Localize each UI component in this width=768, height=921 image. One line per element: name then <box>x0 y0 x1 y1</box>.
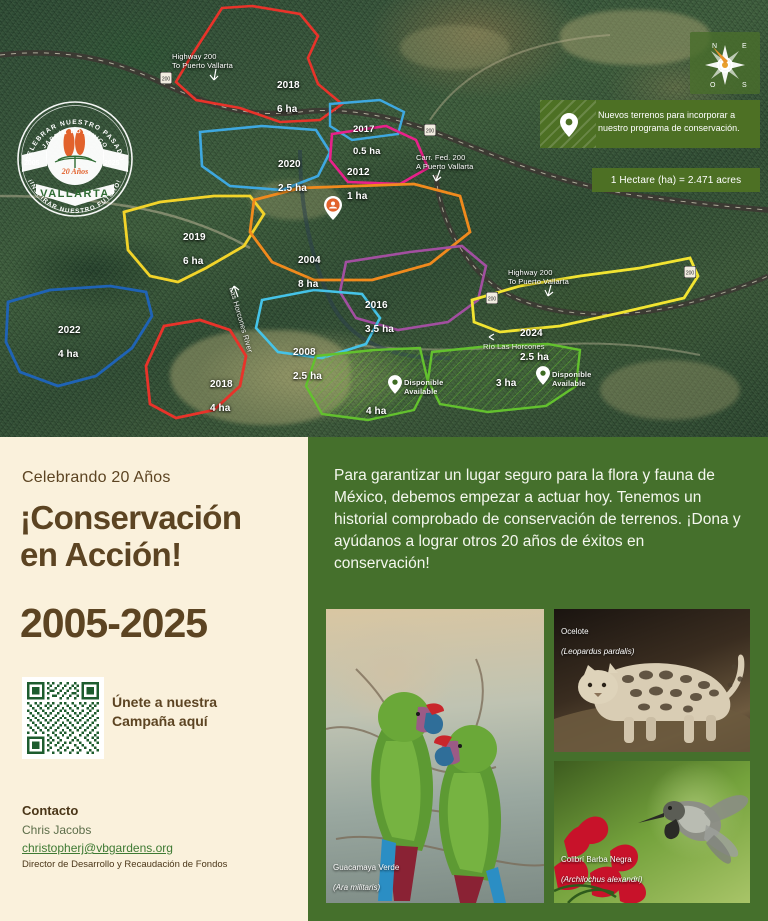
available-pin-icon-4ha <box>388 375 402 394</box>
available-pin-icon-3ha <box>536 366 550 385</box>
parcel-year: 2012 <box>347 167 370 178</box>
compass-rose: N E O S <box>690 32 760 94</box>
svg-text:200: 200 <box>686 271 695 277</box>
qr-caption: Únete a nuestra Campaña aquí <box>112 693 217 731</box>
contact-role: Director de Desarrollo y Recaudación de … <box>22 859 227 870</box>
macaw-right <box>434 725 506 903</box>
hectare-conversion-note: 1 Hectare (ha) = 2.471 acres <box>592 168 760 192</box>
qr-code-icon[interactable] <box>22 677 104 759</box>
highway-shield-icon: 200 <box>486 292 498 304</box>
photo-colibri-barba-negra: Colibrí Barba Negra (Archilochus alexand… <box>554 761 750 903</box>
parcel-2024 <box>472 258 698 332</box>
parcel-label-2012: 2012 1 ha <box>347 155 370 203</box>
compass-north: N <box>712 43 717 50</box>
species-common-name: Ocelote <box>561 627 589 636</box>
parcel-year: 2004 <box>298 255 321 266</box>
parcel-area: 4 ha <box>210 403 230 414</box>
parcel-area: 4 ha <box>58 349 78 360</box>
parcel-area: 2.5 ha <box>293 371 322 382</box>
parcel-year: 2022 <box>58 325 81 336</box>
logo-anniversary: 20 Años <box>61 167 89 176</box>
parcel-year: 2017 <box>353 124 375 135</box>
aerial-conservation-map: 20 Años 2005 2025 VALLARTA CELEBRAR NUES… <box>0 0 768 437</box>
right-green-panel: Para garantizar un lugar seguro para la … <box>308 437 768 921</box>
parcel-area: 2.5 ha <box>520 352 549 363</box>
parcel-label-2022: 2022 4 ha <box>58 313 81 361</box>
parcel-year: 2024 <box>520 328 543 339</box>
svg-text:200: 200 <box>488 297 497 303</box>
parcel-label-2016: 2016 3.5 ha <box>365 288 394 336</box>
parcel-label-2018-north: 2018 6 ha <box>277 68 300 116</box>
call-to-action-paragraph: Para garantizar un lugar seguro para la … <box>334 465 744 575</box>
parcel-year: 2019 <box>183 232 206 243</box>
parcel-year: 2020 <box>278 159 301 170</box>
logo-year-right: 2025 <box>104 160 120 167</box>
parcel-area: 8 ha <box>298 279 318 290</box>
parcel-year: 2018 <box>210 379 233 390</box>
species-latin-name: (Leopardus pardalis) <box>561 647 634 656</box>
parcel-year: 2008 <box>293 347 316 358</box>
contact-email-link[interactable]: christopherj@vbgardens.org <box>22 841 173 855</box>
parcel-label-2020: 2020 2.5 ha <box>278 147 307 195</box>
conservation-poster: 20 Años 2005 2025 VALLARTA CELEBRAR NUES… <box>0 0 768 921</box>
photo-guacamaya-verde: Guacamaya Verde (Ara militaris) <box>326 609 544 903</box>
compass-south: S <box>742 82 747 89</box>
parcel-area: 6 ha <box>183 256 203 267</box>
parcel-label-2024: 2024 2.5 ha <box>520 316 549 364</box>
species-latin-name: (Ara militaris) <box>333 883 380 892</box>
parcel-label-2019: 2019 6 ha <box>183 220 206 268</box>
photo-caption-macaw: Guacamaya Verde (Ara militaris) <box>333 853 399 893</box>
available-area-4ha: 4 ha <box>366 406 386 418</box>
species-common-name: Colibrí Barba Negra <box>561 855 632 864</box>
left-info-panel: Celebrando 20 Años ¡Conservación en Acci… <box>0 437 308 921</box>
wildlife-photo-grid: Guacamaya Verde (Ara militaris) <box>326 609 750 903</box>
parcel-label-2004: 2004 8 ha <box>298 243 321 291</box>
available-area-3ha: 3 ha <box>496 378 516 390</box>
parcel-area: 2.5 ha <box>278 183 307 194</box>
photo-ocelote: Ocelote (Leopardus pardalis) <box>554 609 750 752</box>
new-lands-legend: Nuevos terrenos para incorporar a nuestr… <box>540 100 760 148</box>
compass-east: E <box>742 43 747 50</box>
legend-text: Nuevos terrenos para incorporar a nuestr… <box>598 109 752 135</box>
parcel-year: 2016 <box>365 300 388 311</box>
highway-shield-icon: 200 <box>424 124 436 136</box>
photo-caption-colibri: Colibrí Barba Negra (Archilochus alexand… <box>561 845 642 885</box>
poster-body: Celebrando 20 Años ¡Conservación en Acci… <box>0 437 768 921</box>
parcel-2020 <box>200 126 330 190</box>
visitor-center-pin-icon[interactable] <box>324 196 342 220</box>
hummingbird <box>638 795 748 864</box>
highway-shield-icon: 200 <box>160 72 172 84</box>
road-label-carr-fed-200: Carr. Fed. 200 A Puerto Vallarta <box>416 153 473 171</box>
available-label-4ha: Disponible Available <box>404 378 443 396</box>
logo-name: VALLARTA <box>40 188 110 200</box>
map-pin-icon <box>560 113 578 137</box>
svg-text:200: 200 <box>426 129 435 135</box>
photo-caption-ocelot: Ocelote (Leopardus pardalis) <box>561 617 634 657</box>
parcel-area: 3.5 ha <box>365 324 394 335</box>
parcel-2016 <box>340 246 486 330</box>
parcel-label-2008: 2008 2.5 ha <box>293 335 322 383</box>
parcel-year: 2018 <box>277 80 300 91</box>
species-common-name: Guacamaya Verde <box>333 863 399 872</box>
contact-heading: Contacto <box>22 803 78 818</box>
qr-code-matrix <box>27 682 99 754</box>
anniversary-years: 2005-2025 <box>20 600 207 647</box>
parcel-label-2017: 2017 0.5 ha <box>353 113 381 157</box>
vallarta-botanical-garden-logo: 20 Años 2005 2025 VALLARTA CELEBRAR NUES… <box>14 98 136 220</box>
svg-text:200: 200 <box>162 77 171 83</box>
parcel-area: 6 ha <box>277 104 297 115</box>
species-latin-name: (Archilochus alexandri) <box>561 875 642 884</box>
highway-shield-icon: 200 <box>684 266 696 278</box>
road-label-hwy200-west: Highway 200 To Puerto Vallarta <box>172 52 233 70</box>
contact-name: Chris Jacobs <box>22 823 91 837</box>
road-label-hwy200-east: Highway 200 To Puerto Vallarta <box>508 268 569 286</box>
page-title: ¡Conservación en Acción! <box>20 499 310 573</box>
parcel-area: 1 ha <box>347 191 367 202</box>
compass-west: O <box>710 82 716 89</box>
available-label-3ha: Disponible Available <box>552 370 591 388</box>
parcel-label-2018-south: 2018 4 ha <box>210 367 233 415</box>
eyebrow-text: Celebrando 20 Años <box>22 469 171 487</box>
